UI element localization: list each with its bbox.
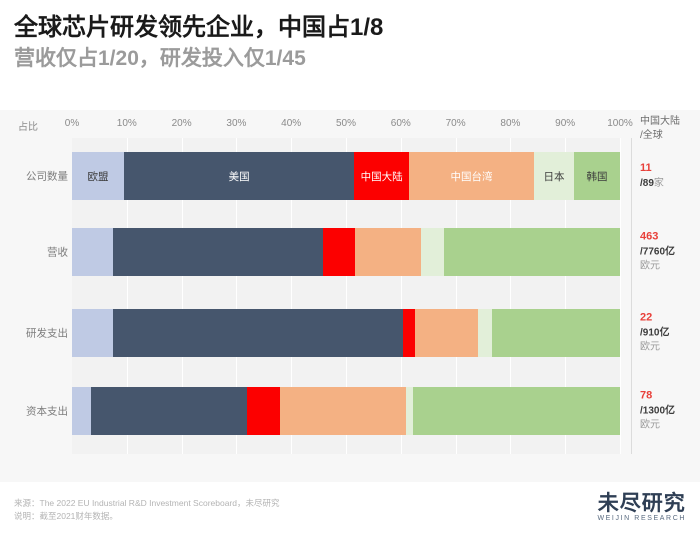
stacked-bar (72, 387, 620, 435)
bar-segment[interactable] (492, 309, 620, 357)
x-axis-tick-label: 90% (555, 118, 575, 129)
brand-logo-en: WEIJIN RESEARCH (597, 515, 686, 522)
bar-segment[interactable]: 中国大陆 (354, 152, 409, 200)
x-axis-tick-label: 60% (391, 118, 411, 129)
x-axis-tick-label: 50% (336, 118, 356, 129)
bar-segment[interactable]: 美国 (124, 152, 354, 200)
stacked-bar: 欧盟美国中国大陆中国台湾日本韩国 (72, 152, 620, 200)
bar-segment[interactable] (444, 228, 620, 276)
title-block: 全球芯片研发领先企业，中国占1/8 营收仅占1/20，研发投入仅1/45 (0, 0, 700, 72)
bar-segment[interactable] (72, 228, 113, 276)
bar-segment[interactable] (247, 387, 280, 435)
x-axis-tick-label: 80% (500, 118, 520, 129)
row-value-denominator: /910亿 (640, 326, 669, 341)
bar-segment[interactable] (280, 387, 406, 435)
right-column-header-line1: 中国大陆 (640, 115, 680, 129)
row-value-numerator: 22 (640, 311, 669, 327)
source-note: 来源：The 2022 EU Industrial R&D Investment… (14, 497, 280, 510)
row-value-denominator: /1300亿 (640, 404, 675, 419)
row-value-annotation: 11/89家 (640, 161, 664, 191)
bar-row: 资本支出78/1300亿欧元 (0, 387, 700, 435)
x-axis-tick-label: 70% (446, 118, 466, 129)
row-label: 公司数量 (26, 169, 68, 184)
bar-segment[interactable] (72, 309, 113, 357)
bar-segment-label: 中国台湾 (450, 169, 492, 184)
row-label: 研发支出 (26, 326, 68, 341)
bar-segment-label: 美国 (229, 169, 250, 184)
bar-segment[interactable] (403, 309, 415, 357)
bar-segment[interactable]: 中国台湾 (409, 152, 534, 200)
brand-logo-cn: 未尽研究 (597, 492, 686, 514)
x-axis-title: 占比 (18, 118, 38, 133)
bar-segment[interactable] (113, 228, 323, 276)
page-title: 全球芯片研发领先企业，中国占1/8 (14, 14, 700, 42)
bar-segment[interactable]: 韩国 (574, 152, 620, 200)
bar-row: 研发支出22/910亿欧元 (0, 309, 700, 357)
x-axis-tick-label: 100% (607, 118, 633, 129)
brand-logo: 未尽研究 WEIJIN RESEARCH (597, 492, 686, 522)
bar-segment[interactable] (415, 309, 478, 357)
row-value-denominator: /7760亿 (640, 245, 675, 260)
x-axis-tick-label: 30% (226, 118, 246, 129)
x-axis-tick-label: 0% (65, 118, 79, 129)
bar-segment[interactable] (113, 309, 403, 357)
bar-row: 营收463/7760亿欧元 (0, 228, 700, 276)
page-subtitle: 营收仅占1/20，研发投入仅1/45 (14, 46, 700, 71)
row-value-unit: 家 (654, 178, 664, 189)
row-value-unit: 欧元 (640, 341, 669, 356)
bar-segment-label: 韩国 (586, 169, 607, 184)
bar-segment-label: 欧盟 (88, 169, 109, 184)
bar-row: 公司数量欧盟美国中国大陆中国台湾日本韩国11/89家 (0, 152, 700, 200)
row-value-annotation: 78/1300亿欧元 (640, 389, 675, 434)
row-value-annotation: 463/7760亿欧元 (640, 230, 675, 275)
method-note: 说明：截至2021财年数据。 (14, 510, 280, 523)
footer-notes: 来源：The 2022 EU Industrial R&D Investment… (14, 497, 280, 523)
row-value-numerator: 463 (640, 230, 675, 246)
row-label: 营收 (47, 245, 68, 260)
bar-segment[interactable] (478, 309, 492, 357)
bar-segment-label: 中国大陆 (361, 169, 403, 184)
right-column-header-line2: /全球 (640, 129, 680, 143)
right-column-header: 中国大陆 /全球 (640, 115, 680, 142)
row-value-numerator: 11 (640, 161, 664, 177)
bar-segment[interactable] (72, 387, 91, 435)
x-axis-tick-label: 40% (281, 118, 301, 129)
row-value-numerator: 78 (640, 389, 675, 405)
x-axis-tick-label: 10% (117, 118, 137, 129)
row-value-unit: 欧元 (640, 260, 675, 275)
bar-segment-label: 日本 (543, 169, 564, 184)
stacked-bar (72, 228, 620, 276)
bar-segment[interactable] (406, 387, 413, 435)
row-value-unit: 欧元 (640, 419, 675, 434)
row-value-annotation: 22/910亿欧元 (640, 311, 669, 356)
bar-segment[interactable] (421, 228, 444, 276)
row-label: 资本支出 (26, 404, 68, 419)
bar-segment[interactable] (355, 228, 420, 276)
row-value-denominator: /89家 (640, 177, 664, 192)
stacked-bar (72, 309, 620, 357)
bar-segment[interactable] (323, 228, 355, 276)
bar-segment[interactable] (91, 387, 247, 435)
x-axis-tick-label: 20% (172, 118, 192, 129)
bar-segment[interactable] (413, 387, 620, 435)
bar-segment[interactable]: 欧盟 (72, 152, 124, 200)
bar-segment[interactable]: 日本 (534, 152, 574, 200)
chart-area: 占比 中国大陆 /全球 0%10%20%30%40%50%60%70%80%90… (0, 110, 700, 482)
